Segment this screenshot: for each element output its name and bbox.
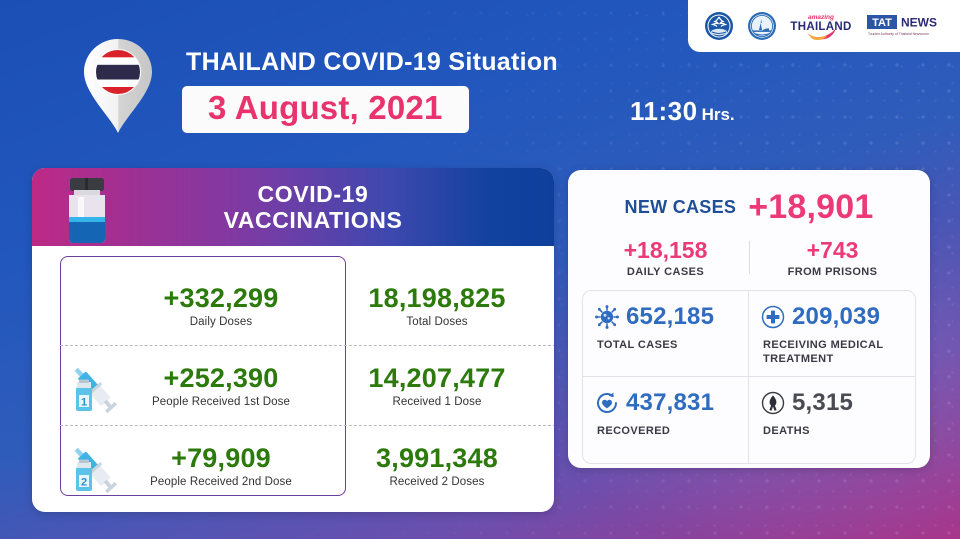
- daily-doses-value: +332,299: [164, 284, 279, 312]
- second-dose-label: People Received 2nd Dose: [150, 476, 292, 488]
- tat-news-logo: TAT NEWS Tourism Authority of Thailand N…: [866, 9, 944, 43]
- vaccinations-title: COVID-19 VACCINATIONS: [224, 181, 403, 234]
- svg-text:NEWS: NEWS: [901, 16, 937, 30]
- svg-text:1: 1: [81, 397, 87, 409]
- daily-doses-label: Daily Doses: [190, 316, 252, 328]
- thailand-flag-map-pin-icon: [80, 36, 156, 136]
- received-1-dose-value: 14,207,477: [368, 364, 505, 392]
- vaccination-row-first-dose: 1 +252,390 People Received 1st Dose: [60, 346, 348, 426]
- svg-text:Tourism Authority of Thailand: Tourism Authority of Thailand Newsroom: [868, 32, 929, 36]
- vaccination-row-total-doses: 18,198,825 Total Doses: [348, 266, 526, 346]
- vaccination-row-daily-doses: +332,299 Daily Doses: [60, 266, 348, 346]
- vaccine-vial-icon: [56, 174, 118, 246]
- page-title: THAILAND COVID-19 Situation: [186, 48, 558, 77]
- recovered-heart-refresh-icon: [595, 391, 619, 415]
- total-cases-label: TOTAL CASES: [597, 338, 740, 352]
- from-prisons-cell: +743 FROM PRISONS: [749, 237, 916, 278]
- total-cases-value: 652,185: [626, 303, 714, 331]
- total-doses-value: 18,198,825: [368, 284, 505, 312]
- report-time: 11:30Hrs.: [630, 96, 735, 127]
- from-prisons-label: FROM PRISONS: [749, 266, 916, 278]
- stat-recovered: 437,831 RECOVERED: [583, 377, 749, 463]
- vaccinations-title-line1: COVID-19: [224, 181, 403, 207]
- new-cases-header: NEW CASES +18,901: [582, 188, 916, 227]
- first-dose-value: +252,390: [164, 364, 279, 392]
- deaths-value: 5,315: [792, 389, 853, 417]
- first-dose-label: People Received 1st Dose: [152, 396, 290, 408]
- vaccination-row-received-2-doses: 3,991,348 Received 2 Doses: [348, 426, 526, 506]
- date-banner: 3 August, 2021: [182, 86, 469, 133]
- new-cases-label: NEW CASES: [625, 197, 737, 218]
- partner-logo-bar: amazing THAILAND TAT NEWS Tourism Author…: [688, 0, 960, 52]
- time-unit: Hrs.: [702, 105, 735, 124]
- new-cases-value: +18,901: [748, 188, 873, 227]
- from-prisons-value: +743: [749, 237, 916, 264]
- coronavirus-icon: [595, 305, 619, 329]
- vaccinations-title-line2: VACCINATIONS: [224, 207, 403, 233]
- date-text: 3 August, 2021: [208, 91, 443, 126]
- vaccinations-grid: +332,299 Daily Doses 18,198,825 Total Do…: [60, 266, 526, 506]
- vaccinations-body: +332,299 Daily Doses 18,198,825 Total Do…: [32, 246, 554, 512]
- statistics-grid: 652,185 TOTAL CASES 209,039 RECEIVING ME…: [582, 290, 916, 464]
- tourism-authority-thailand-seal-logo: [747, 9, 777, 43]
- second-dose-value: +79,909: [171, 444, 271, 472]
- receiving-treatment-label: RECEIVING MEDICAL TREATMENT: [763, 338, 907, 367]
- stat-total-cases: 652,185 TOTAL CASES: [583, 291, 749, 377]
- vaccination-row-second-dose: 2 +79,909 People Received 2nd Dose: [60, 426, 348, 506]
- vaccinations-card-header: COVID-19 VACCINATIONS: [32, 168, 554, 246]
- ministry-of-public-health-logo: [704, 9, 734, 43]
- daily-cases-value: +18,158: [582, 237, 749, 264]
- case-statistics-card: NEW CASES +18,901 +18,158 DAILY CASES +7…: [568, 170, 930, 468]
- received-1-dose-label: Received 1 Dose: [392, 396, 481, 408]
- svg-text:THAILAND: THAILAND: [791, 21, 852, 33]
- svg-text:2: 2: [81, 477, 87, 489]
- time-value: 11:30: [630, 96, 698, 126]
- daily-cases-cell: +18,158 DAILY CASES: [582, 237, 749, 278]
- syringe-dose-2-icon: 2: [66, 435, 124, 497]
- total-doses-label: Total Doses: [406, 316, 467, 328]
- medical-cross-circle-icon: [761, 305, 785, 329]
- receiving-treatment-value: 209,039: [792, 303, 880, 331]
- received-2-doses-value: 3,991,348: [376, 444, 498, 472]
- recovered-value: 437,831: [626, 389, 714, 417]
- deaths-label: DEATHS: [763, 424, 907, 438]
- svg-text:amazing: amazing: [808, 14, 834, 21]
- mourning-ribbon-circle-icon: [761, 391, 785, 415]
- new-cases-breakdown: +18,158 DAILY CASES +743 FROM PRISONS: [582, 237, 916, 278]
- svg-text:TAT: TAT: [872, 17, 892, 29]
- recovered-label: RECOVERED: [597, 424, 740, 438]
- daily-cases-label: DAILY CASES: [582, 266, 749, 278]
- vaccinations-card: COVID-19 VACCINATIONS +332,299 Daily Dos…: [32, 168, 554, 512]
- vaccination-row-received-1-dose: 14,207,477 Received 1 Dose: [348, 346, 526, 426]
- amazing-thailand-logo: amazing THAILAND: [789, 9, 853, 43]
- stat-receiving-treatment: 209,039 RECEIVING MEDICAL TREATMENT: [749, 291, 915, 377]
- received-2-doses-label: Received 2 Doses: [390, 476, 485, 488]
- stat-deaths: 5,315 DEATHS: [749, 377, 915, 463]
- syringe-dose-1-icon: 1: [66, 355, 124, 417]
